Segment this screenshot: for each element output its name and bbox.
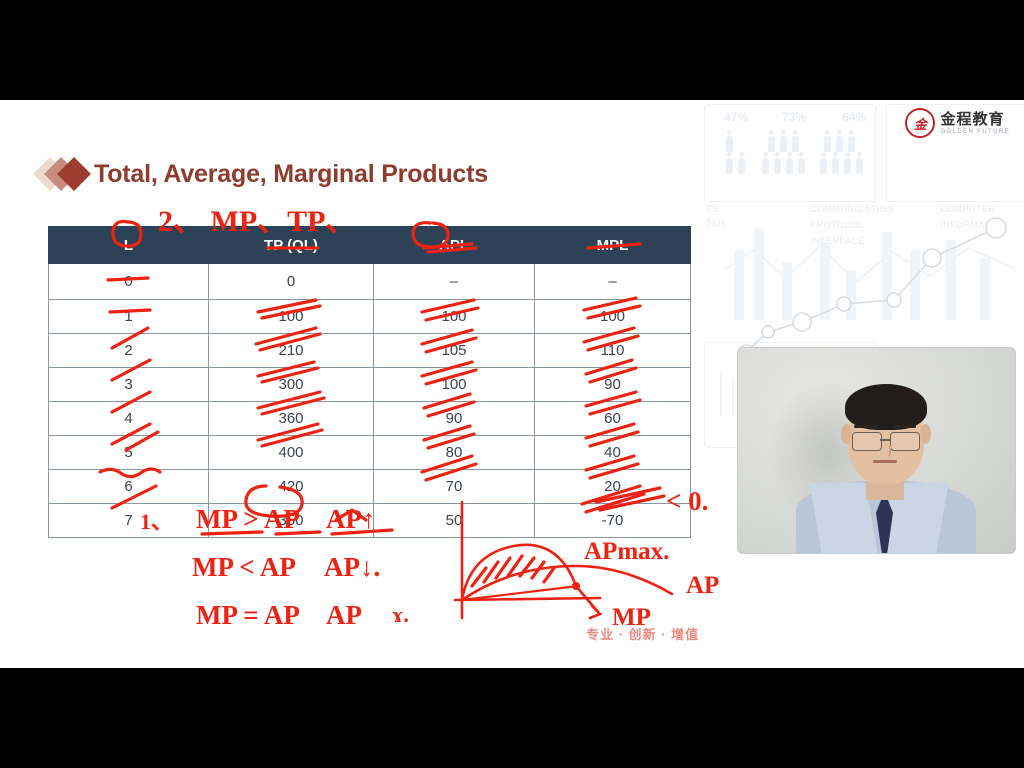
cell-mpl: 40 <box>535 436 691 470</box>
cell-l: 3 <box>49 368 209 402</box>
bg-label-ter: TER <box>706 218 726 228</box>
logo-seal-icon: 金 <box>905 108 935 138</box>
cell-apl: 105 <box>374 334 535 368</box>
brand-logo: 金 金程教育 GOLDEN FUTURE <box>905 108 1010 138</box>
cell-tp: 400 <box>209 436 374 470</box>
cell-apl: 70 <box>374 470 535 504</box>
cell-apl: 100 <box>374 368 535 402</box>
presenter-webcam[interactable] <box>738 348 1015 553</box>
logo-name-cn: 金程教育 <box>940 112 1010 127</box>
letterbox-top <box>0 0 1024 100</box>
table-row: 3 300 100 90 <box>49 368 691 402</box>
cell-mpl: 110 <box>535 334 691 368</box>
letterbox-bottom <box>0 668 1024 768</box>
cell-l: 5 <box>49 436 209 470</box>
cell-tp: 210 <box>209 334 374 368</box>
column-header-apl: APL <box>374 227 535 264</box>
table-row: 4 360 90 60 <box>49 402 691 436</box>
bg-label-communication: COMMUNICATION <box>810 204 894 214</box>
table-row: 0 0 – – <box>49 264 691 300</box>
cell-apl: 80 <box>374 436 535 470</box>
ink-apmax-label: APmax. <box>584 538 669 566</box>
cell-l: 0 <box>49 264 209 300</box>
bg-label-73: 73% <box>782 110 806 124</box>
ink-line3-right: AP <box>326 600 362 631</box>
table-row: 2 210 105 110 <box>49 334 691 368</box>
cell-mpl: – <box>535 264 691 300</box>
cell-tp: 300 <box>209 368 374 402</box>
cell-mpl: 20 <box>535 470 691 504</box>
brand-tagline: 专业 · 创新 · 增值 <box>586 624 699 643</box>
cell-tp: 420 <box>209 470 374 504</box>
logo-name-en: GOLDEN FUTURE <box>940 129 1010 135</box>
page-title: Total, Average, Marginal Products <box>94 160 488 189</box>
cell-mpl: 90 <box>535 368 691 402</box>
ink-ap-label: AP <box>686 572 719 600</box>
ink-line2-right: AP↓. <box>324 552 380 583</box>
bg-label-protocol: PROTOCOL <box>810 220 864 230</box>
bg-label-es: ES <box>706 204 719 214</box>
cell-tp: 350 <box>209 504 374 538</box>
ink-line3-tail: ɤ. <box>392 602 409 628</box>
cell-apl: 100 <box>374 300 535 334</box>
cell-apl: 90 <box>374 402 535 436</box>
cell-mpl: 60 <box>535 402 691 436</box>
table-row: 7 350 50 -70 <box>49 504 691 538</box>
table-row: 5 400 80 40 <box>49 436 691 470</box>
table-row: 6 420 70 20 <box>49 470 691 504</box>
table-row: 1 100 100 100 <box>49 300 691 334</box>
cell-mpl: -70 <box>535 504 691 538</box>
bg-label-64: 64% <box>842 110 866 124</box>
cell-l: 2 <box>49 334 209 368</box>
cell-l: 1 <box>49 300 209 334</box>
cell-tp: 0 <box>209 264 374 300</box>
cell-mpl: 100 <box>535 300 691 334</box>
bg-label-information: INFORMATION <box>940 220 1008 230</box>
cell-apl: – <box>374 264 535 300</box>
ink-line2-left: MP < AP <box>192 552 296 583</box>
bg-label-47: 47% <box>724 110 748 124</box>
cell-l: 7 <box>49 504 209 538</box>
cell-tp: 100 <box>209 300 374 334</box>
bg-label-computer: COMPUTER <box>940 204 996 214</box>
cell-tp: 360 <box>209 402 374 436</box>
products-table: L TP (QL) APL MPL 0 0 – – 1 100 100 100 <box>48 226 691 538</box>
cell-l: 4 <box>49 402 209 436</box>
table-header-row: L TP (QL) APL MPL <box>49 227 691 264</box>
slide-title-row: Total, Average, Marginal Products <box>38 158 488 190</box>
column-header-mpl: MPL <box>535 227 691 264</box>
cell-apl: 50 <box>374 504 535 538</box>
video-player-stage: 47% 73% 64% ES TER COMMUNICATION PROTOCO… <box>0 0 1024 768</box>
cell-l: 6 <box>49 470 209 504</box>
ink-line3-left: MP = AP <box>196 600 300 631</box>
column-header-tp: TP (QL) <box>209 227 374 264</box>
bg-label-interface: INTERFACE <box>810 236 865 246</box>
diamond-bullet-icon <box>38 158 94 190</box>
column-header-l: L <box>49 227 209 264</box>
